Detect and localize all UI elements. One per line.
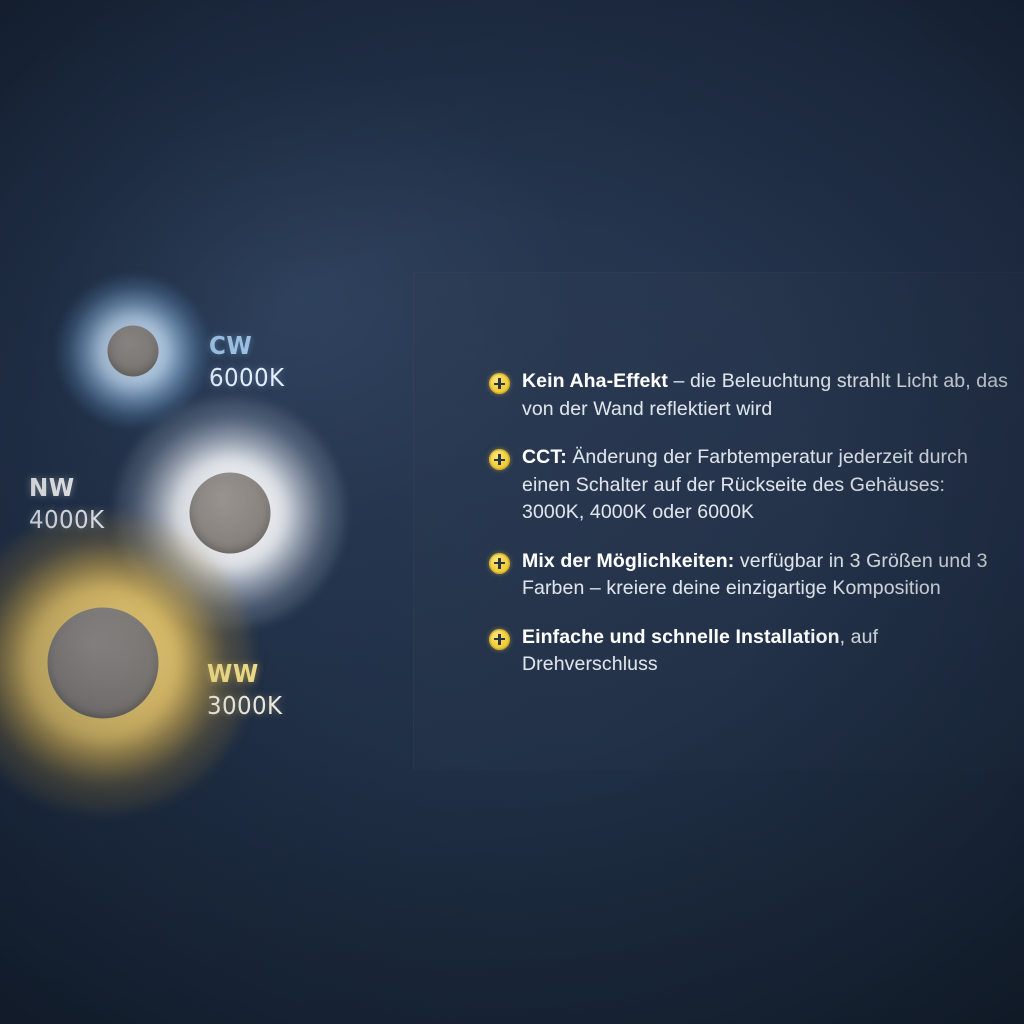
feature-item-bold: CCT: [522, 446, 567, 468]
feature-item-bold: Kein Aha-Effekt [522, 370, 668, 392]
feature-item-text: CCT: Änderung der Farbtemperatur jederze… [522, 444, 1009, 527]
lamp-label-cool-white: CW 6000K [209, 331, 291, 394]
feature-item-text: Mix der Möglichkeiten: verfügbar in 3 Gr… [522, 548, 1009, 603]
lamp-code-neutral-white: NW [29, 473, 104, 503]
product-feature-graphic: CW 6000K NW 4000K WW 3000K Kein Aha-Effe… [0, 0, 1024, 1024]
plus-circle-icon [489, 449, 510, 470]
lamp-disc-warm-white [48, 608, 159, 719]
feature-item: Mix der Möglichkeiten: verfügbar in 3 Gr… [489, 548, 1009, 603]
feature-item-bold: Mix der Möglichkeiten: [522, 550, 734, 572]
lamp-kelvin-neutral-white: 4000K [29, 503, 104, 536]
lamp-kelvin-warm-white: 3000K [207, 689, 282, 722]
feature-item-rest: Änderung der Farbtemperatur jederzeit du… [522, 446, 968, 523]
lamp-disc-neutral-white [190, 473, 271, 554]
lamp-kelvin-cool-white: 6000K [209, 361, 284, 394]
lamp-code-warm-white: WW [207, 659, 282, 689]
plus-circle-icon [489, 373, 510, 394]
lamp-disc-cool-white [108, 326, 159, 377]
feature-item: CCT: Änderung der Farbtemperatur jederze… [489, 444, 1009, 527]
feature-item-text: Kein Aha-Effekt – die Beleuchtung strahl… [522, 368, 1009, 423]
lamp-label-warm-white: WW 3000K [207, 659, 289, 722]
lamp-code-cool-white: CW [209, 331, 284, 361]
feature-item: Einfache und schnelle Installation, auf … [489, 624, 1009, 679]
feature-item-bold: Einfache und schnelle Installation [522, 626, 840, 648]
plus-circle-icon [489, 553, 510, 574]
lamp-label-neutral-white: NW 4000K [29, 473, 111, 536]
plus-circle-icon [489, 629, 510, 650]
feature-panel: Kein Aha-Effekt – die Beleuchtung strahl… [413, 272, 1024, 770]
feature-item: Kein Aha-Effekt – die Beleuchtung strahl… [489, 368, 1009, 423]
feature-bullet-list: Kein Aha-Effekt – die Beleuchtung strahl… [489, 368, 1009, 679]
feature-item-text: Einfache und schnelle Installation, auf … [522, 624, 1009, 679]
